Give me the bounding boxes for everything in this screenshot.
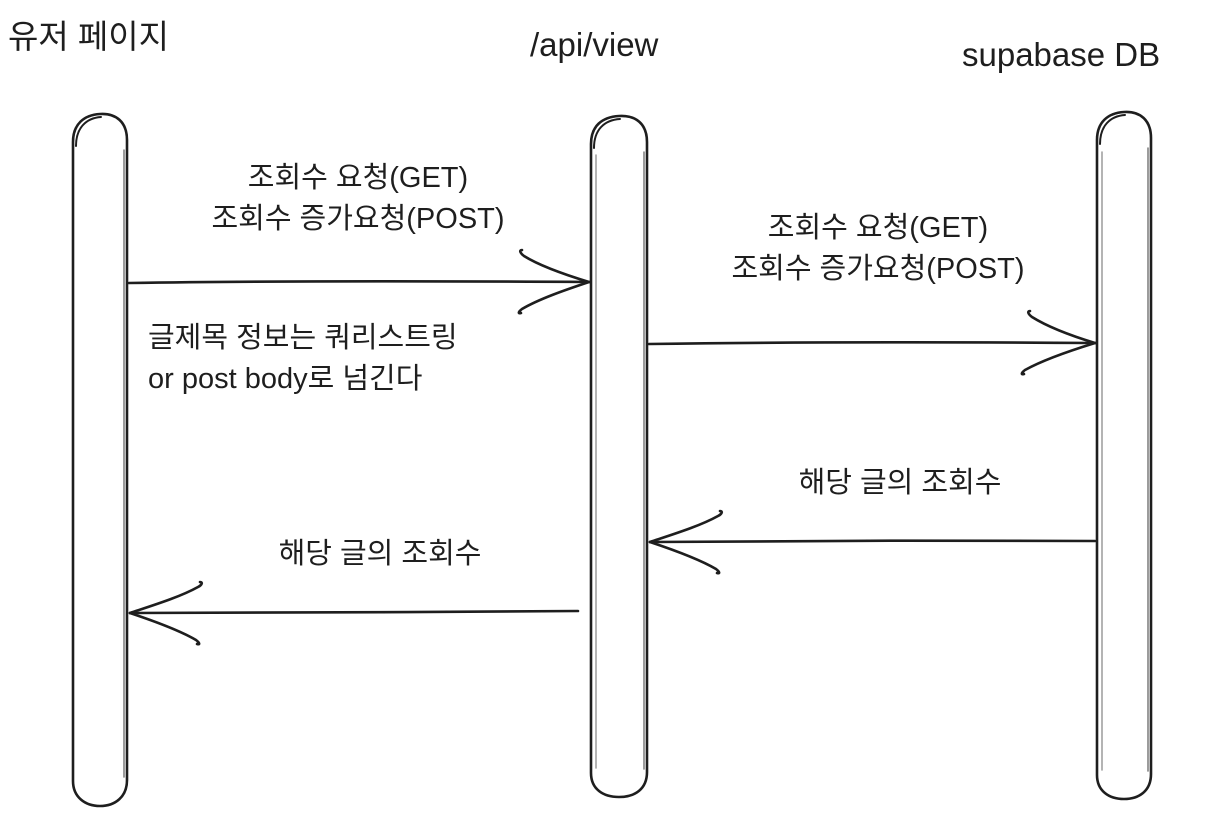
message-label-line: 조회수 증가요청(POST) (148, 199, 568, 240)
message-label-api-response-view-count: 해당 글의 조회수 (180, 534, 580, 575)
message-label-line: 조회수 요청(GET) (668, 208, 1088, 249)
actor-label-supabase-db: supabase DB (962, 36, 1160, 74)
lifeline-api-view (591, 116, 647, 797)
message-label-line: 해당 글의 조회수 (180, 534, 580, 575)
message-label-line: 해당 글의 조회수 (700, 463, 1100, 504)
actor-label-user-page: 유저 페이지 (8, 18, 169, 56)
message-label-line: 조회수 요청(GET) (148, 158, 568, 199)
note-line: or post body로 넘긴다 (148, 359, 608, 400)
arrow-msg-db-response-view-count (650, 511, 1095, 573)
actor-label-api-view: /api/view (530, 26, 658, 64)
sequence-diagram-canvas: 유저 페이지 /api/view supabase DB 조회수 요청(GET)… (0, 0, 1219, 826)
message-label-db-response-view-count: 해당 글의 조회수 (700, 463, 1100, 504)
note-title-info: 글제목 정보는 쿼리스트링 or post body로 넘긴다 (148, 318, 608, 400)
message-label-get-view-count: 조회수 요청(GET) 조회수 증가요청(POST) (148, 158, 568, 240)
diagram-vector-layer (0, 0, 1219, 826)
message-label-line: 조회수 증가요청(POST) (668, 249, 1088, 290)
arrow-msg-get-view-count (129, 250, 589, 313)
arrow-msg-api-response-view-count (130, 582, 578, 644)
note-line: 글제목 정보는 쿼리스트링 (148, 318, 608, 359)
message-label-db-get-view-count: 조회수 요청(GET) 조회수 증가요청(POST) (668, 208, 1088, 290)
lifeline-user-page (73, 114, 127, 806)
lifeline-supabase-db (1097, 112, 1151, 799)
arrow-msg-db-get-view-count (649, 311, 1095, 374)
